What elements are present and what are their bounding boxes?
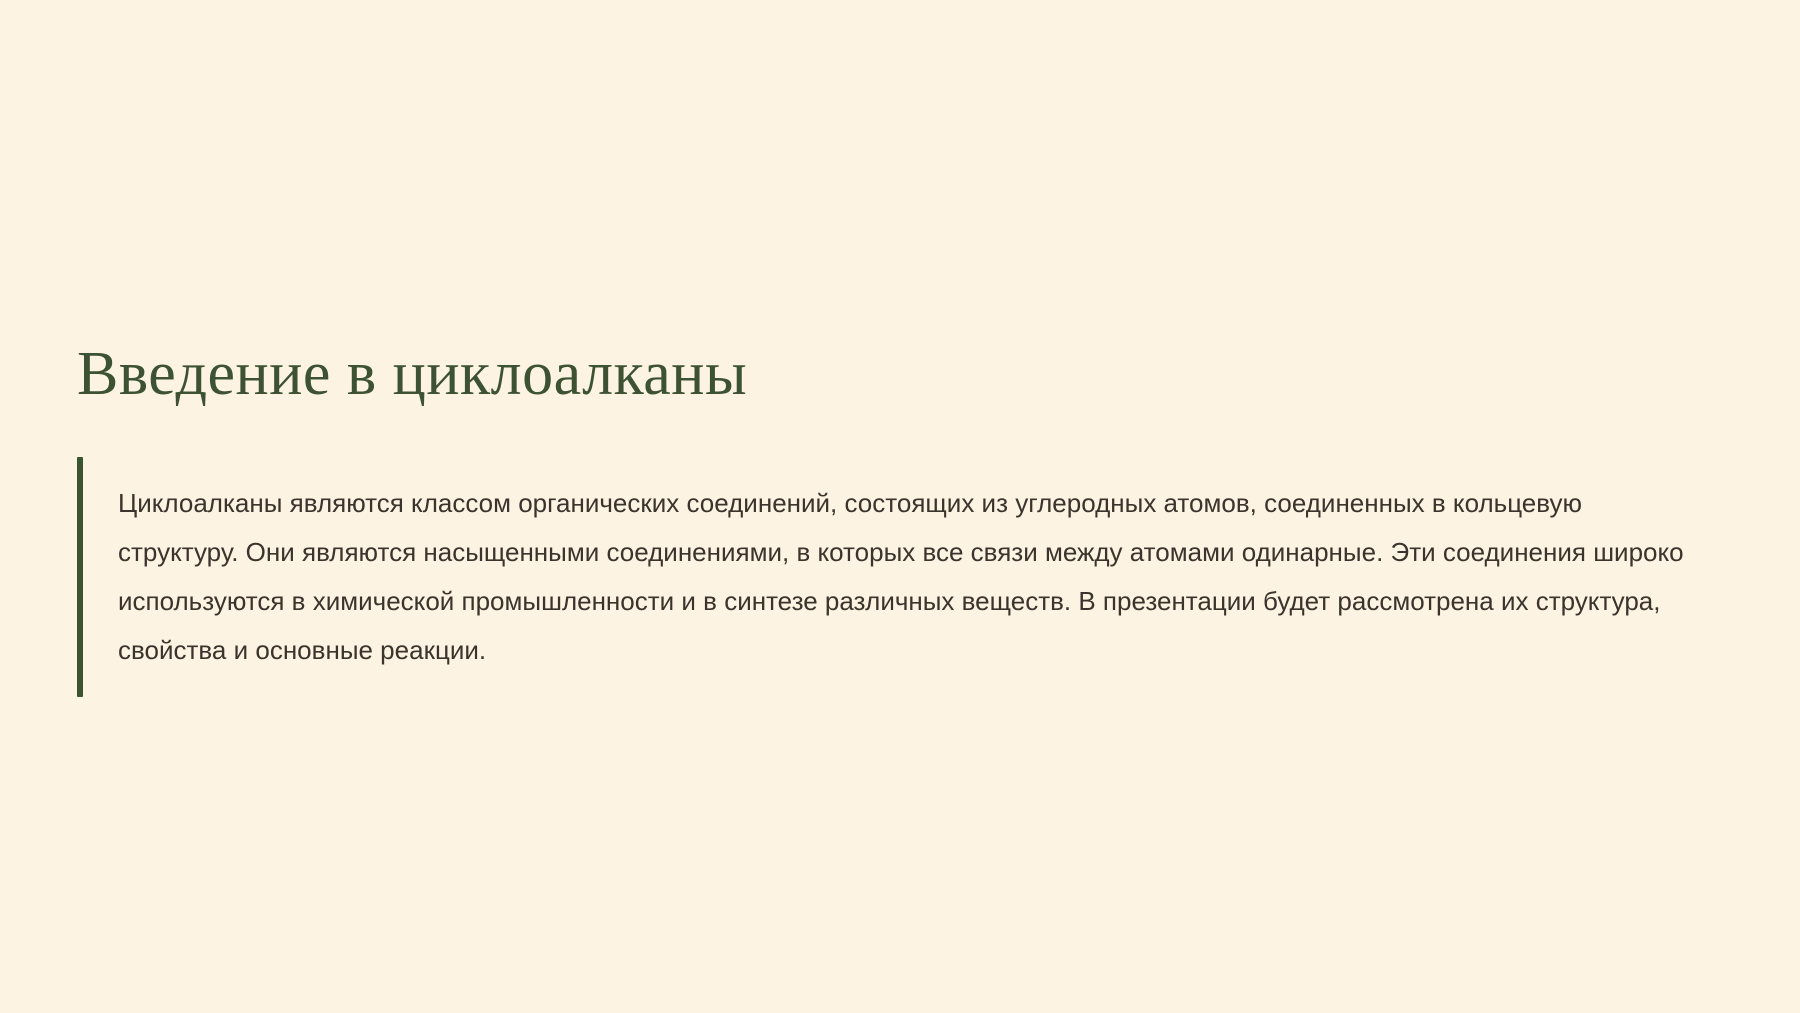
- body-paragraph: Циклоалканы являются классом органически…: [118, 479, 1688, 675]
- page-title: Введение в циклоалканы: [77, 340, 1737, 409]
- slide-content: Введение в циклоалканы Циклоалканы являю…: [77, 340, 1737, 701]
- accent-bar: [77, 457, 83, 697]
- presentation-slide: Введение в циклоалканы Циклоалканы являю…: [0, 0, 1800, 1013]
- body-callout-block: Циклоалканы являются классом органически…: [77, 453, 1707, 701]
